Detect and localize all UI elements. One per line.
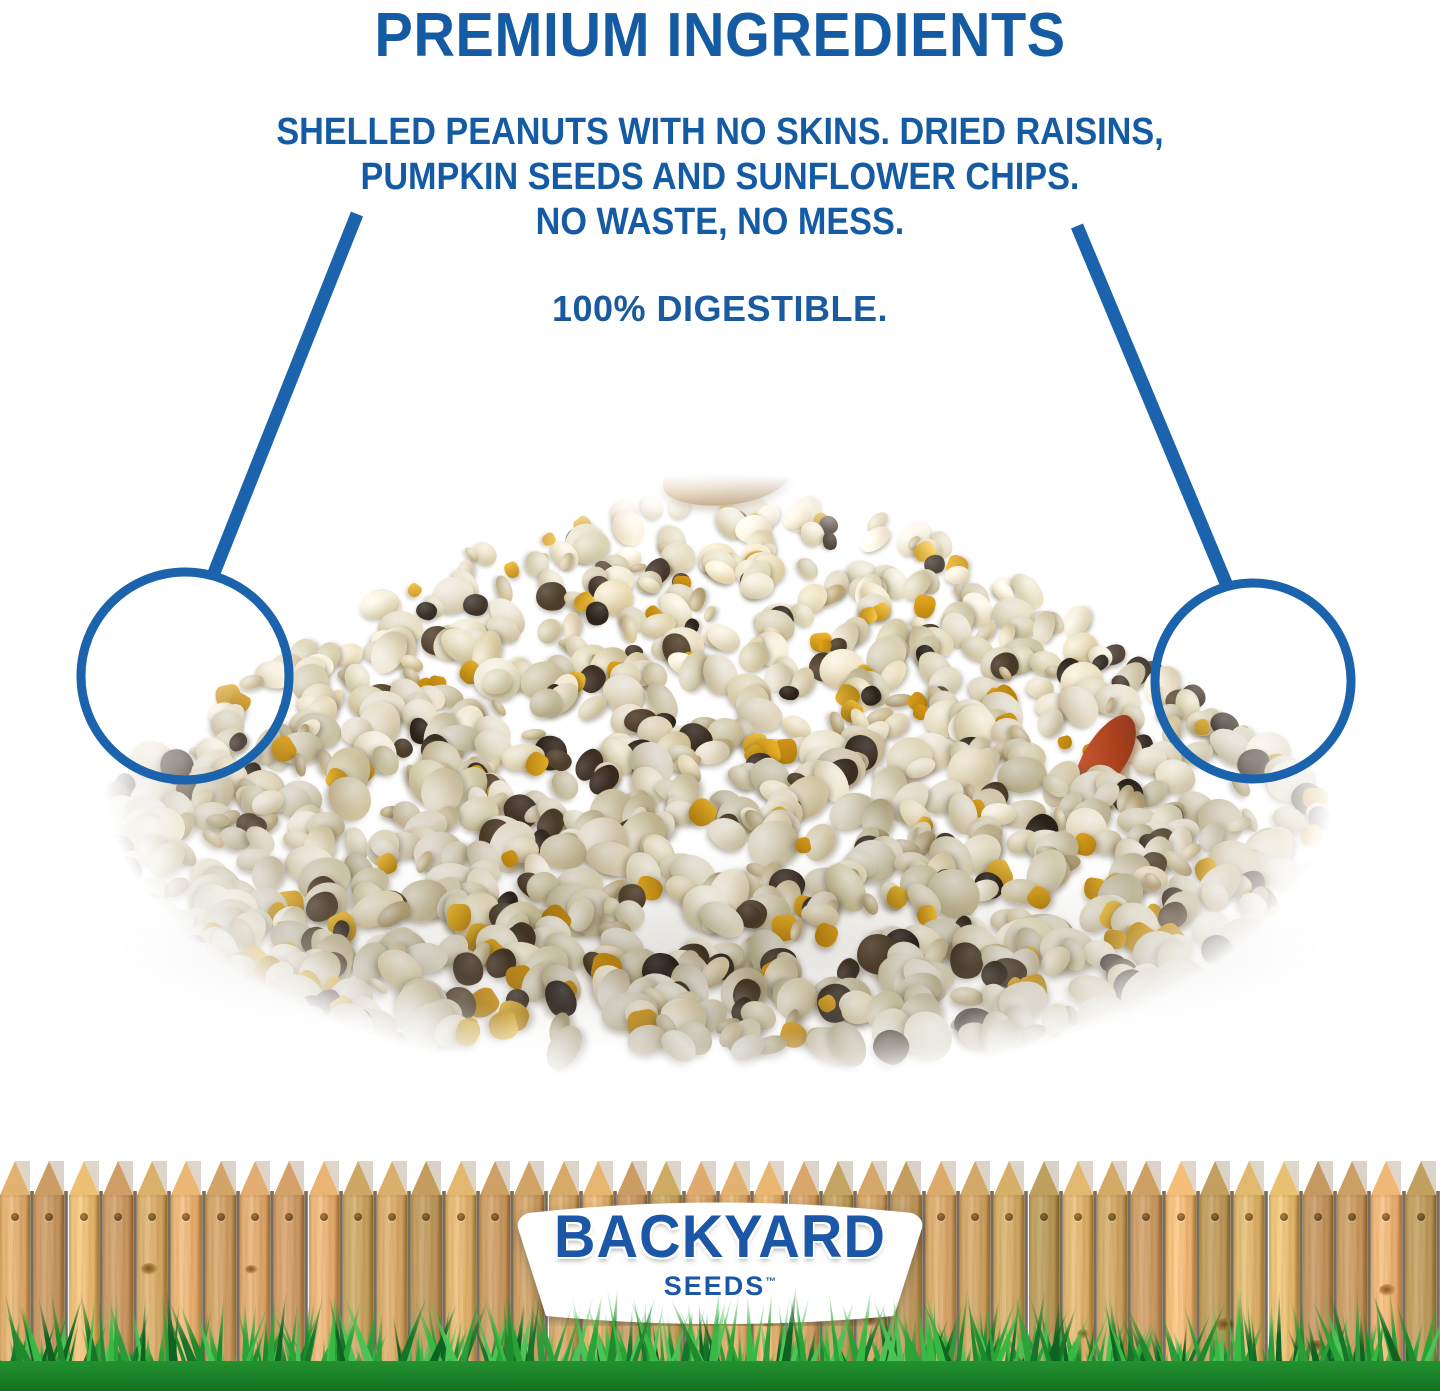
picket-tip-shade (891, 1161, 921, 1195)
picket-tip-shade (514, 1161, 544, 1195)
fence-nail-icon (251, 1213, 259, 1221)
picket-tip-shade (1269, 1161, 1299, 1195)
fence-nail-icon (1382, 1213, 1390, 1221)
fence-nail-icon (354, 1213, 362, 1221)
fence-nail-icon (182, 1213, 190, 1221)
picket-tip-shade (309, 1161, 339, 1195)
picket-tip-shade (377, 1161, 407, 1195)
picket-tip-shade (480, 1161, 510, 1195)
picket-tip-shade (1303, 1161, 1333, 1195)
fence-nail-icon (148, 1213, 156, 1221)
picket-tip-shade (1063, 1161, 1093, 1195)
seed-pumpkin (823, 1015, 874, 1073)
picket-tip-shade (1337, 1161, 1367, 1195)
fence-nail-icon (422, 1213, 430, 1221)
picket-tip-shade (926, 1161, 956, 1195)
subhead-line-2: PUMPKIN SEEDS AND SUNFLOWER CHIPS. (72, 155, 1368, 199)
picket-tip-shade (137, 1161, 167, 1195)
fence-nail-icon (114, 1213, 122, 1221)
picket-tip-shade (103, 1161, 133, 1195)
trademark-icon: ™ (765, 1276, 776, 1288)
picket-tip-shade (686, 1161, 716, 1195)
fence-nail-icon (320, 1213, 328, 1221)
fence-nail-icon (1211, 1213, 1219, 1221)
picket-tip-shade (171, 1161, 201, 1195)
picket-tip-shade (720, 1161, 750, 1195)
picket-tip-shade (343, 1161, 373, 1195)
seed-sunflow (859, 890, 882, 917)
picket-tip-shade (823, 1161, 853, 1195)
seed-mix-pile (0, 330, 1440, 1130)
fence-nail-icon (388, 1213, 396, 1221)
fence-nail-icon (1348, 1213, 1356, 1221)
seed-raisin (778, 685, 799, 701)
picket-tip-shade (857, 1161, 887, 1195)
picket-tip-shade (1097, 1161, 1127, 1195)
picket-tip-shade (69, 1161, 99, 1195)
fence-nail-icon (217, 1213, 225, 1221)
seed-corn (1057, 734, 1074, 750)
fence-nail-icon (937, 1213, 945, 1221)
seed-corn (446, 904, 471, 932)
grass-base (0, 1361, 1440, 1391)
digestible-claim: 100% DIGESTIBLE. (0, 288, 1440, 330)
picket-tip-shade (446, 1161, 476, 1195)
picket-tip-shade (1371, 1161, 1401, 1195)
seed-sunflow (238, 673, 265, 691)
seed-corn (1299, 823, 1324, 848)
fence-nail-icon (1314, 1213, 1322, 1221)
picket-tip-shade (789, 1161, 819, 1195)
seed-raisin (462, 593, 489, 616)
seed-sunflow (702, 604, 718, 623)
picket-tip-shade (411, 1161, 441, 1195)
seed-peanut (855, 521, 895, 557)
picket-tip-shade (960, 1161, 990, 1195)
fence-nail-icon (1040, 1213, 1048, 1221)
fence-nail-icon (285, 1213, 293, 1221)
picket-tip-shade (994, 1161, 1024, 1195)
picket-tip-shade (34, 1161, 64, 1195)
picket-tip-shade (274, 1161, 304, 1195)
picket-tip-shade (617, 1161, 647, 1195)
logo-sub-text: SEEDS™ (664, 1269, 777, 1300)
picket-tip-shade (583, 1161, 613, 1195)
picket-tip-shade (240, 1161, 270, 1195)
picket-tip-shade (1166, 1161, 1196, 1195)
seed-raisin (821, 530, 839, 550)
picket-tip-shade (1029, 1161, 1059, 1195)
picket-tip-shade (1234, 1161, 1264, 1195)
fence-nail-icon (80, 1213, 88, 1221)
promo-image-root: PREMIUM INGREDIENTS SHELLED PEANUTS WITH… (0, 0, 1440, 1391)
picket-tip-shade (1131, 1161, 1161, 1195)
logo-brand-text: BACKYARD (554, 1207, 886, 1267)
fence-nail-icon (11, 1213, 19, 1221)
seed-corn (405, 581, 423, 599)
picket-tip-shade (651, 1161, 681, 1195)
picket-tip-shade (1200, 1161, 1230, 1195)
fence-nail-icon (491, 1213, 499, 1221)
seed-sunflow (949, 985, 985, 1008)
seed-pumpkin (794, 553, 822, 582)
picket-tip-shade (1406, 1161, 1436, 1195)
subhead-line-3: NO WASTE, NO MESS. (72, 200, 1368, 244)
picket-tip-shade (0, 1161, 30, 1195)
fence-nail-icon (1108, 1213, 1116, 1221)
subhead-line-1: SHELLED PEANUTS WITH NO SKINS. DRIED RAI… (72, 110, 1368, 154)
seed-peanut (539, 1020, 588, 1076)
page-title: PREMIUM INGREDIENTS (50, 2, 1389, 70)
seed-walnut-piece (659, 436, 795, 511)
fence-nail-icon (971, 1213, 979, 1221)
seed-raisin (94, 860, 116, 879)
fence-nail-icon (45, 1213, 53, 1221)
fence-nail-icon (1005, 1213, 1013, 1221)
picket-tip-shade (206, 1161, 236, 1195)
fence-nail-icon (1074, 1213, 1082, 1221)
fence-nail-icon (1177, 1213, 1185, 1221)
fence-nail-icon (1280, 1213, 1288, 1221)
picket-tip-shade (754, 1161, 784, 1195)
pile-seed-layer (20, 390, 1420, 1090)
fence-nail-icon (457, 1213, 465, 1221)
fence-nail-icon (1142, 1213, 1150, 1221)
fence-nail-icon (1417, 1213, 1425, 1221)
picket-tip-shade (549, 1161, 579, 1195)
logo-sub-label: SEEDS (664, 1271, 766, 1301)
fence-nail-icon (1245, 1213, 1253, 1221)
